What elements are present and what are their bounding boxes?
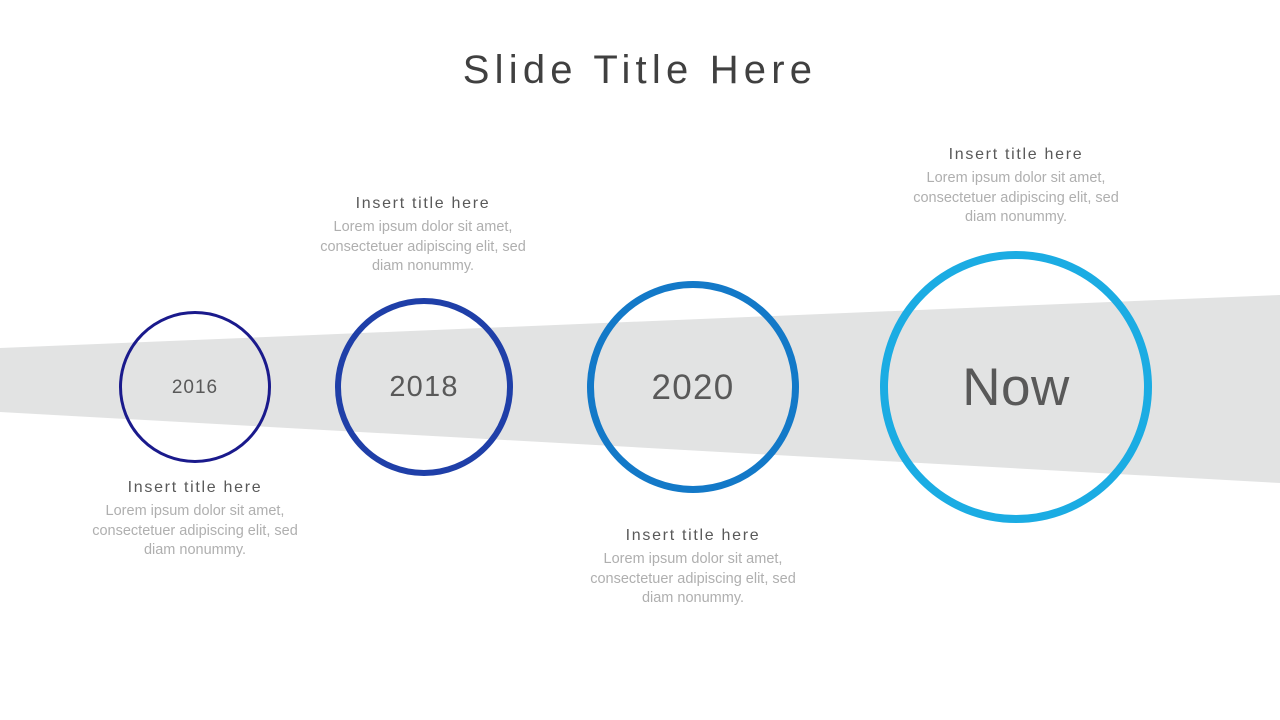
caption-title: Insert title here (898, 144, 1134, 166)
milestone-circle-2018[interactable]: 2018 (335, 298, 513, 476)
caption-body: Lorem ipsum dolor sit amet, consectetuer… (76, 502, 314, 561)
caption-title: Insert title here (575, 525, 811, 547)
milestone-circle-2016[interactable]: 2016 (119, 311, 271, 463)
milestone-label: Now (962, 361, 1070, 414)
milestone-caption-2020: Insert title here Lorem ipsum dolor sit … (575, 525, 811, 609)
page-title: Slide Title Here (0, 44, 1280, 96)
milestone-label: 2018 (389, 373, 458, 402)
milestone-label: 2020 (651, 370, 734, 405)
milestone-circle-2020[interactable]: 2020 (587, 281, 799, 493)
caption-title: Insert title here (305, 193, 541, 215)
caption-title: Insert title here (76, 477, 314, 499)
milestone-caption-now: Insert title here Lorem ipsum dolor sit … (898, 144, 1134, 228)
caption-body: Lorem ipsum dolor sit amet, consectetuer… (898, 169, 1134, 228)
milestone-caption-2016: Insert title here Lorem ipsum dolor sit … (76, 477, 314, 561)
slide-canvas: Slide Title Here 2016 2018 2020 Now Inse… (0, 0, 1280, 720)
caption-body: Lorem ipsum dolor sit amet, consectetuer… (305, 218, 541, 277)
caption-body: Lorem ipsum dolor sit amet, consectetuer… (575, 550, 811, 609)
milestone-label: 2016 (172, 378, 218, 397)
milestone-caption-2018: Insert title here Lorem ipsum dolor sit … (305, 193, 541, 277)
milestone-circle-now[interactable]: Now (880, 251, 1152, 523)
